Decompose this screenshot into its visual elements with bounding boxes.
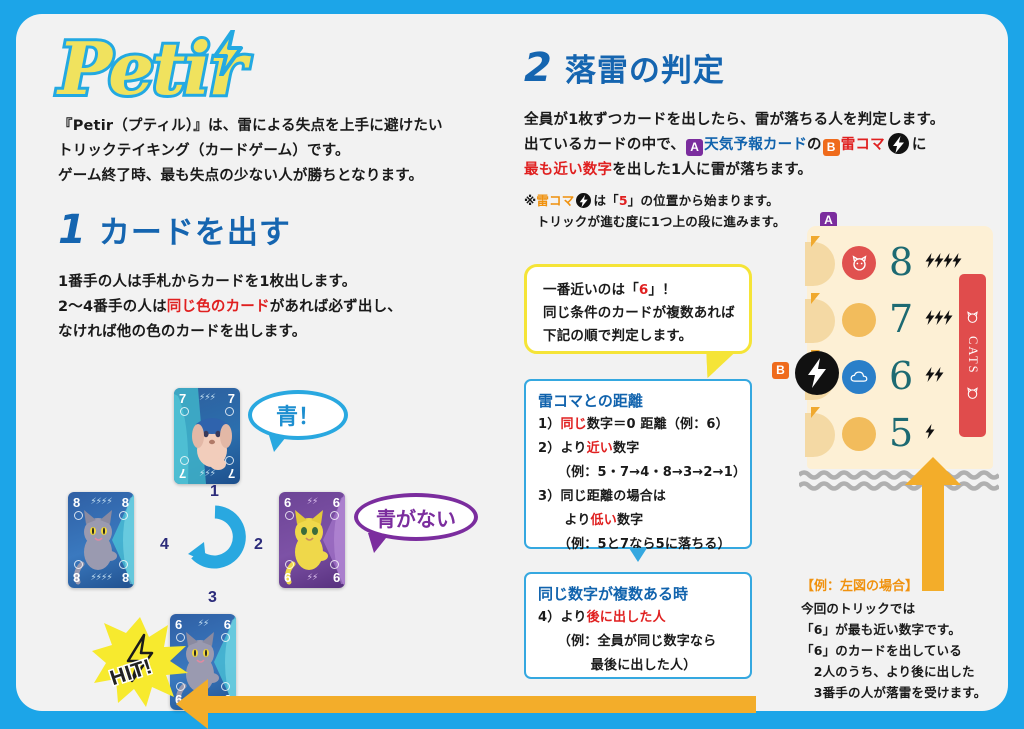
cats-label: CATS <box>965 336 980 375</box>
text-span: 2）より <box>538 441 587 456</box>
text-span: 2人のうち、より後に出した <box>801 664 975 679</box>
text-span: 全員が1枚ずつカードを出したら、雷が落ちる人を判定します。 <box>524 112 944 128</box>
text-line: ※雷コマは「5」の位置から始まります。 <box>524 190 786 211</box>
text-span: 「6」が最も近い数字です。 <box>801 622 961 637</box>
card-bolt-row: ⚡⚡ <box>279 497 345 507</box>
row-number: 7 <box>889 300 913 338</box>
row-notch <box>811 293 820 304</box>
text-span: （例：全員が同じ数字なら <box>538 634 716 649</box>
tag-b-marker: B <box>823 139 840 156</box>
water-waves <box>799 469 999 491</box>
text-line: トリックが進む度に1つ上の段に進みます。 <box>524 211 786 232</box>
card-suit-icon <box>285 560 294 569</box>
text-line: 「6」が最も近い数字です。 <box>801 619 986 640</box>
text-span: 4）より <box>538 610 587 625</box>
text-span: 同じ <box>560 417 586 432</box>
turn-order-2: 2 <box>254 536 263 554</box>
text-span: 雷コマ <box>536 193 574 208</box>
text-span: ※ <box>524 193 536 208</box>
card-cat-purple-6[interactable]: 6 6 9 9 ⚡⚡ ⚡⚡ <box>279 492 345 588</box>
bubble-blue: 青！ <box>248 390 348 440</box>
card-suit-icon <box>180 456 189 465</box>
lightning-bolt-icon <box>211 30 245 76</box>
lightning-bolt-icon <box>576 193 591 208</box>
rulebook-page: Petir 『Petir（プティル）』は、雷による失点を上手に避けたい トリック… <box>16 14 1008 711</box>
card-cat-blue-8[interactable]: 8 8 8 8 ⚡⚡⚡⚡ ⚡⚡⚡⚡ <box>68 492 134 588</box>
tiebreak-rules-box: 同じ数字が複数ある時 4）より後に出した人 （例：全員が同じ数字なら 最後に出し… <box>524 572 752 679</box>
row-bolt-count <box>925 310 952 329</box>
text-line: 一番近いのは「6」！ <box>543 279 749 302</box>
turn-order-arrow <box>182 504 248 570</box>
text-span: 3番手の人が落雷を受けます。 <box>801 685 986 700</box>
example-note-heading: 【例：左図の場合】 <box>801 576 986 598</box>
text-line: 最後に出した人） <box>538 654 750 678</box>
text-line: 最も近い数字を出した1人に雷が落ちます。 <box>524 158 944 183</box>
text-line: （例：全員が同じ数字なら <box>538 630 750 654</box>
text-line: 3）同じ距離の場合は <box>538 485 750 509</box>
section2-number: 2 <box>524 48 552 88</box>
intro-line: トリックテイキング（カードゲーム）です。 <box>58 139 443 164</box>
text-span: は「 <box>593 193 618 208</box>
section2-heading: 2 落雷の判定 <box>524 48 725 91</box>
row-color-dot <box>842 360 876 394</box>
text-span: 2〜4番手の人は <box>58 299 167 315</box>
text-line: 3番手の人が落雷を受けます。 <box>801 682 986 703</box>
card-suit-icon <box>74 511 83 520</box>
bubble-no-blue-text: 青がない <box>376 503 456 532</box>
text-line: より低い数字 <box>538 509 750 533</box>
text-span: 数字＝0 距離（例：6） <box>587 417 729 432</box>
card-dog-blue-7[interactable]: 7 7 7 7 ⚡⚡⚡ ⚡⚡⚡ <box>174 388 240 484</box>
example-note: 【例：左図の場合】 今回のトリックでは「6」が最も近い数字です。「6」のカードを… <box>801 576 986 703</box>
text-span: 出ているカードの中で、 <box>524 137 685 153</box>
text-span: 5 <box>619 193 628 208</box>
row-bolt-count <box>925 424 934 443</box>
text-span: 1番手の人は手札からカードを1枚出します。 <box>58 274 356 290</box>
row-number: 5 <box>889 414 913 452</box>
row-color-dot <box>842 303 876 337</box>
tiebreak-box-title: 同じ数字が複数ある時 <box>538 582 750 606</box>
text-span: （例：5・7→4・8→3→2→1） <box>538 465 746 480</box>
text-line: 同じ条件のカードが複数あれば <box>543 302 749 325</box>
card-suit-icon <box>119 560 128 569</box>
text-span: 」の位置から始まります。 <box>628 193 779 208</box>
intro-line: 『Petir（プティル）』は、雷による失点を上手に避けたい <box>58 114 443 139</box>
text-span: を出した1人に雷が落ちます。 <box>612 162 812 178</box>
text-span: 最後に出した人） <box>538 658 696 673</box>
bubble-blue-text: 青！ <box>276 399 320 431</box>
text-line: 「6」のカードを出している <box>801 640 986 661</box>
flow-arrow-up-shaft <box>922 476 944 591</box>
text-span: 雷コマ <box>841 137 885 153</box>
row-color-dot <box>842 417 876 451</box>
card-suit-icon <box>74 560 83 569</box>
text-span: に <box>912 137 927 153</box>
bubble-no-blue: 青がない <box>354 493 478 541</box>
text-span: 」！ <box>649 282 676 298</box>
game-logo: Petir <box>58 28 318 110</box>
section1-number: 1 <box>58 210 86 250</box>
card-suit-icon <box>119 511 128 520</box>
text-span: 3）同じ距離の場合は <box>538 489 666 504</box>
nearest-callout: 一番近いのは「6」！同じ条件のカードが複数あれば下記の順で判定します。 <box>524 264 752 354</box>
text-line: なければ他の色のカードを出します。 <box>58 320 402 345</box>
circular-arrow-icon <box>182 504 248 570</box>
flow-arrow-left-head <box>176 679 208 729</box>
text-span: トリックが進む度に1つ上の段に進みます。 <box>524 214 786 229</box>
hit-burst: HIT! <box>92 617 188 707</box>
intro-line: ゲーム終了時、最も失点の少ない人が勝ちとなります。 <box>58 164 443 189</box>
card-bolt-row: ⚡⚡⚡ <box>174 469 240 479</box>
card-suit-icon <box>221 633 230 642</box>
text-span: の <box>807 137 822 153</box>
card-suit-icon <box>225 407 234 416</box>
text-line: 下記の順で判定します。 <box>543 325 749 348</box>
text-line: 4）より後に出した人 <box>538 606 750 630</box>
cat-face-icon <box>966 311 979 324</box>
text-span: 一番近いのは「 <box>543 282 639 298</box>
card-bolt-row: ⚡⚡⚡⚡ <box>68 573 134 583</box>
section1-heading: 1 カードを出す <box>58 210 291 253</box>
tag-a-marker: A <box>686 139 703 156</box>
flow-arrow-down <box>629 548 647 562</box>
card-suit-icon <box>225 456 234 465</box>
text-line: 出ているカードの中で、A天気予報カードのB雷コマに <box>524 133 944 158</box>
row-number: 6 <box>889 357 913 395</box>
tag-b-marker: B <box>772 362 789 379</box>
distance-rules-box: 雷コマとの距離 1）同じ数字＝0 距離（例：6）2）より近い数字 （例：5・7→… <box>524 379 752 549</box>
text-span: 近い <box>587 441 613 456</box>
cat-face-icon <box>966 387 979 400</box>
card-bolt-row: ⚡⚡ <box>279 573 345 583</box>
cats-side-tab: CATS <box>959 274 986 437</box>
text-span: より <box>538 513 591 528</box>
row-bolt-count <box>925 367 943 386</box>
text-span: 6 <box>639 282 649 298</box>
card-bolt-row: ⚡⚡⚡ <box>174 393 240 403</box>
text-span: 後に出した人 <box>587 610 666 625</box>
text-span: 「6」のカードを出している <box>801 643 962 658</box>
text-span: 同じ条件のカードが複数あれば <box>543 305 735 321</box>
text-line: 2人のうち、より後に出した <box>801 661 986 682</box>
text-line: 今回のトリックでは <box>801 598 986 619</box>
turn-order-1: 1 <box>210 483 219 501</box>
row-bolt-count <box>925 253 961 272</box>
text-line: 1）同じ数字＝0 距離（例：6） <box>538 413 750 437</box>
row-halfdisc <box>805 299 835 343</box>
card-suit-icon <box>330 511 339 520</box>
card-suit-icon <box>285 511 294 520</box>
text-span: 今回のトリックでは <box>801 601 915 616</box>
text-span: なければ他の色のカードを出します。 <box>58 324 306 340</box>
text-span: 低い <box>591 513 617 528</box>
text-line: 全員が1枚ずつカードを出したら、雷が落ちる人を判定します。 <box>524 108 944 133</box>
row-halfdisc <box>805 242 835 286</box>
lightning-bolt-icon <box>806 358 828 388</box>
text-span: 数字 <box>613 441 639 456</box>
text-span: があれば必ず出し、 <box>270 299 402 315</box>
section1-title: カードを出す <box>99 213 291 253</box>
turn-order-4: 4 <box>160 536 169 554</box>
lightning-token[interactable] <box>795 351 839 395</box>
text-line: 2〜4番手の人は同じ色のカードがあれば必ず出し、 <box>58 295 402 320</box>
text-span: 数字 <box>617 513 643 528</box>
weather-forecast-card[interactable]: 8765 CATS <box>807 226 993 469</box>
card-bolt-row: ⚡⚡⚡⚡ <box>68 497 134 507</box>
text-line: 2）より近い数字 <box>538 437 750 461</box>
row-notch <box>811 407 820 418</box>
row-halfdisc <box>805 413 835 457</box>
section2-title: 落雷の判定 <box>565 51 725 91</box>
section2-note: ※雷コマは「5」の位置から始まります。 トリックが進む度に1つ上の段に進みます。 <box>524 190 786 232</box>
section1-body: 1番手の人は手札からカードを1枚出します。2〜4番手の人は同じ色のカードがあれば… <box>58 270 402 345</box>
card-suit-icon <box>180 407 189 416</box>
section2-body: 全員が1枚ずつカードを出したら、雷が落ちる人を判定します。出ているカードの中で、… <box>524 108 944 183</box>
card-suit-icon <box>221 682 230 691</box>
text-span: 同じ色のカード <box>167 299 270 315</box>
row-number: 8 <box>889 243 913 281</box>
row-color-dot <box>842 246 876 280</box>
text-span: 下記の順で判定します。 <box>543 328 692 344</box>
intro-text: 『Petir（プティル）』は、雷による失点を上手に避けたい トリックテイキング（… <box>58 114 443 189</box>
distance-box-title: 雷コマとの距離 <box>538 389 750 413</box>
text-span: 天気予報カード <box>704 137 807 153</box>
card-suit-icon <box>330 560 339 569</box>
turn-order-3: 3 <box>208 589 217 607</box>
lightning-bolt-icon <box>888 133 909 154</box>
text-span: 1） <box>538 417 560 432</box>
flow-arrow-left-shaft <box>206 696 756 713</box>
text-line: （例：5・7→4・8→3→2→1） <box>538 461 750 485</box>
text-line: 1番手の人は手札からカードを1枚出します。 <box>58 270 402 295</box>
text-span: 最も近い数字 <box>524 162 612 178</box>
row-notch <box>811 236 820 247</box>
